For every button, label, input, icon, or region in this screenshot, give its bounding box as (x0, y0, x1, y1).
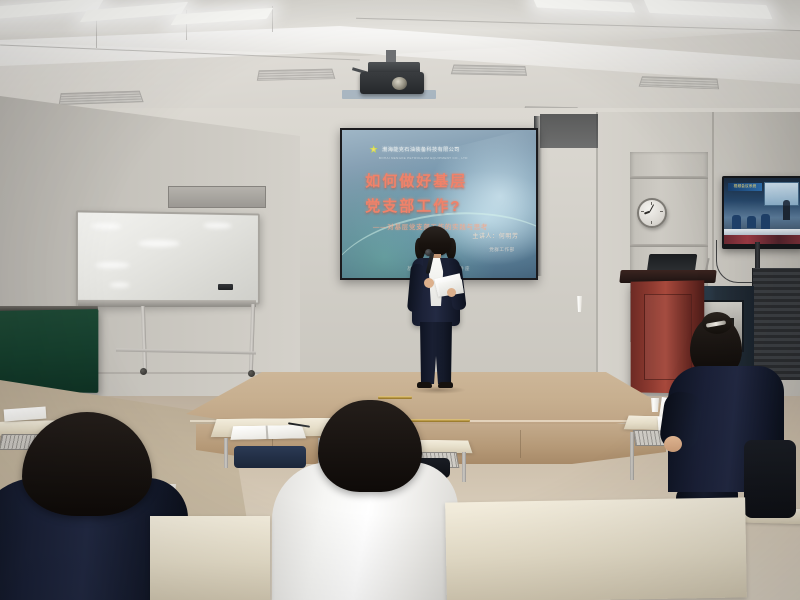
desk (445, 497, 747, 600)
recess-shelf (630, 244, 708, 247)
presenter-hand-right (447, 288, 456, 297)
tv-banner-text: 视频会议系统 (728, 183, 762, 191)
whiteboard-pen-tray (78, 300, 256, 307)
desk-leg (630, 432, 634, 480)
presenter-shoe-right (438, 382, 453, 388)
tv-feed-attendee (761, 214, 770, 229)
recess-shelf (630, 176, 708, 179)
slide-title-line1: 如何做好基层 (365, 170, 467, 191)
slide-company-name-en: BOHAI NENGKE PETROLEUM EQUIPMENT CO., LT… (379, 156, 468, 160)
tv-monitor: 视频会议系统 (722, 176, 800, 249)
desk (150, 516, 270, 600)
whiteboard-eraser (218, 284, 233, 290)
slide-company-name: 渤海能克石油装备科技有限公司 (382, 146, 460, 153)
chair (744, 440, 796, 518)
air-vent-icon (59, 91, 144, 105)
air-vent-icon (639, 76, 720, 89)
wall-seam (596, 112, 598, 412)
company-logo-icon (369, 145, 378, 154)
whiteboard (76, 210, 260, 307)
tv-feed-speaker (783, 200, 790, 220)
slide-organization: 党群工作部 (489, 247, 514, 253)
desk-leg (462, 452, 466, 482)
upper-wall-recess (540, 114, 598, 148)
slide-presenter-name: 主讲人：何明芳 (472, 231, 518, 240)
presenter-shoe-left (417, 382, 432, 388)
chair (234, 446, 306, 468)
whiteboard-caster (140, 368, 147, 375)
analog-wall-clock (637, 198, 667, 228)
podium-front-panel (644, 294, 692, 380)
presenter-hair (419, 226, 451, 256)
air-vent-icon (257, 69, 336, 81)
whiteboard-caster (248, 370, 255, 377)
conference-room-photo: 渤海能克石油装备科技有限公司 BOHAI NENGKE PETROLEUM EQ… (0, 0, 800, 600)
tv-feed-attendee (747, 216, 756, 228)
attendee-right-hand (664, 436, 682, 452)
open-notebook (230, 425, 306, 440)
ceiling-seam (272, 6, 273, 32)
slide-title-line2: 党支部工作? (365, 195, 461, 216)
tv-feed-projection (764, 182, 799, 206)
tv-screen: 视频会议系统 (724, 178, 800, 244)
desk-leg (224, 438, 228, 468)
slide-logo-row: 渤海能克石油装备科技有限公司 (369, 145, 460, 154)
green-notice-board (0, 309, 98, 393)
stage-brass-trim (378, 396, 412, 399)
tv-feed-front-row (724, 235, 800, 244)
wall-bracket (168, 186, 266, 208)
equipment-rack (752, 268, 800, 380)
attendee-center-hair (318, 400, 422, 492)
projector-lens-icon (392, 77, 407, 90)
wall-seam (712, 112, 714, 282)
tv-feed-attendee (732, 215, 741, 229)
air-vent-icon (451, 64, 527, 75)
